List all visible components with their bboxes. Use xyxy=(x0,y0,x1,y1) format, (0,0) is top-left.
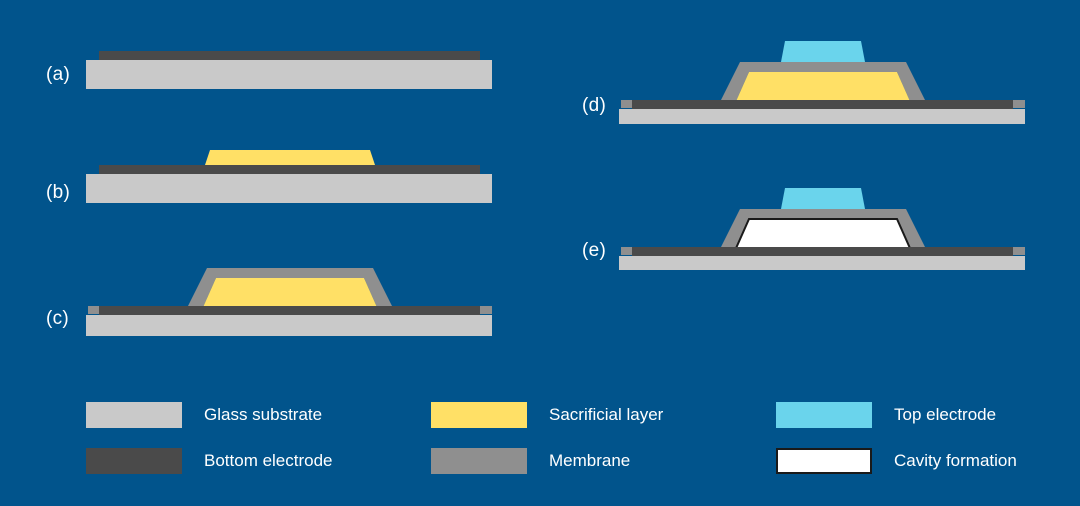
panel-d-cross-section xyxy=(613,32,1033,124)
panel-label-b: (b) xyxy=(46,182,70,204)
legend-swatch-cavity-formation xyxy=(776,448,872,474)
legend-label-sacrificial-layer: Sacrificial layer xyxy=(549,405,663,425)
legend-swatch-membrane xyxy=(431,448,527,474)
panel-label-e: (e) xyxy=(582,240,606,262)
legend-label-bottom-electrode: Bottom electrode xyxy=(204,451,333,471)
glass-substrate-layer xyxy=(86,315,492,336)
legend-swatch-sacrificial-layer xyxy=(431,402,527,428)
legend-label-cavity-formation: Cavity formation xyxy=(894,451,1017,471)
panel-b-cross-section xyxy=(80,140,500,210)
legend-swatch-top-electrode xyxy=(776,402,872,428)
legend-item-membrane: Membrane xyxy=(431,448,776,474)
legend: Glass substrate Sacrificial layer Top el… xyxy=(86,392,1046,484)
panel-c-cross-section xyxy=(80,262,500,336)
process-flow-figure: (a) (b) (c) (d) (e) Glass xyxy=(0,0,1080,506)
top-electrode-layer xyxy=(781,188,865,209)
panel-a-cross-section xyxy=(80,44,500,96)
glass-substrate-layer xyxy=(86,174,492,203)
legend-label-top-electrode: Top electrode xyxy=(894,405,996,425)
panel-label-a: (a) xyxy=(46,64,70,86)
legend-item-sacrificial-layer: Sacrificial layer xyxy=(431,402,776,428)
legend-item-cavity-formation: Cavity formation xyxy=(776,448,1046,474)
legend-label-glass-substrate: Glass substrate xyxy=(204,405,322,425)
legend-swatch-glass-substrate xyxy=(86,402,182,428)
legend-item-glass-substrate: Glass substrate xyxy=(86,402,431,428)
legend-swatch-bottom-electrode xyxy=(86,448,182,474)
panel-label-d: (d) xyxy=(582,95,606,117)
legend-item-top-electrode: Top electrode xyxy=(776,402,1046,428)
glass-substrate-layer xyxy=(619,109,1025,124)
legend-label-membrane: Membrane xyxy=(549,451,630,471)
panel-e-cross-section xyxy=(613,180,1033,270)
legend-item-bottom-electrode: Bottom electrode xyxy=(86,448,431,474)
panel-label-c: (c) xyxy=(46,308,69,330)
top-electrode-layer xyxy=(781,41,865,62)
glass-substrate-layer xyxy=(86,60,492,89)
glass-substrate-layer xyxy=(619,256,1025,270)
